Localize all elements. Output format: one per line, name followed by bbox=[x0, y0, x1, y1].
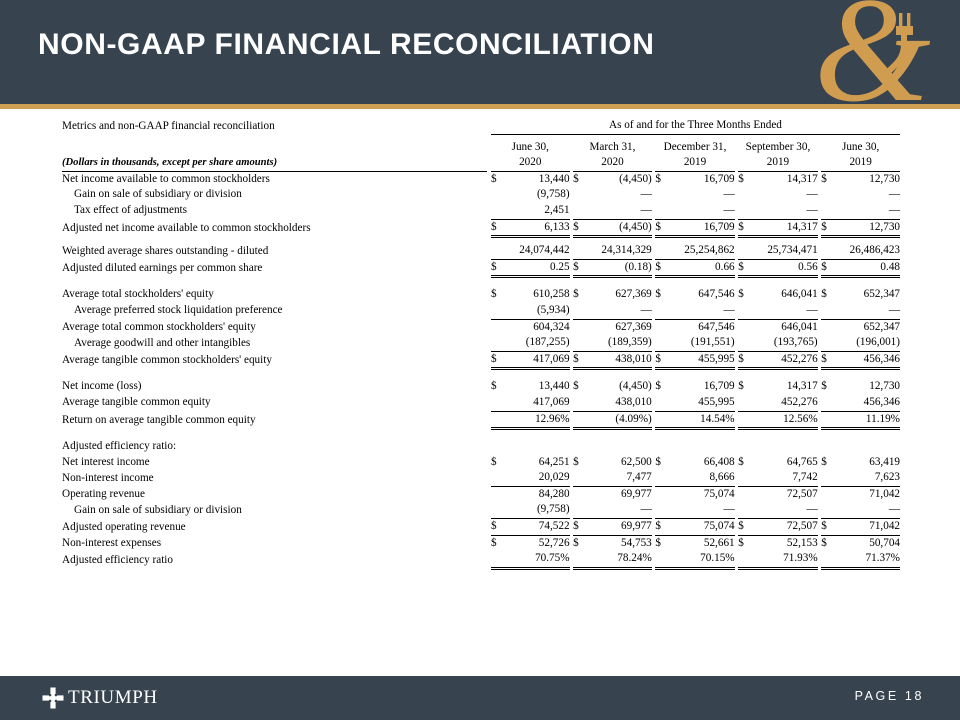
row-label: Adjusted efficiency ratio bbox=[62, 551, 487, 568]
currency-symbol: $ bbox=[738, 287, 751, 303]
currency-symbol bbox=[573, 502, 585, 518]
currency-symbol bbox=[821, 203, 833, 219]
cell-value: 63,419 bbox=[834, 455, 900, 471]
currency-symbol: $ bbox=[821, 259, 833, 277]
currency-symbol bbox=[573, 335, 585, 351]
table-row: Adjusted operating revenue$74,522$69,977… bbox=[62, 519, 900, 536]
currency-symbol: $ bbox=[573, 535, 585, 551]
row-label: Net income (loss) bbox=[62, 379, 487, 395]
cell-value: 26,486,423 bbox=[834, 243, 900, 259]
cell-value: 12,730 bbox=[834, 219, 900, 237]
cell-value: 70.15% bbox=[668, 551, 735, 568]
cell-value: 70.75% bbox=[503, 551, 569, 568]
currency-symbol bbox=[573, 470, 585, 486]
currency-symbol: $ bbox=[655, 351, 667, 369]
svg-text:&: & bbox=[814, 0, 931, 104]
cell-value: (9,758) bbox=[503, 187, 569, 203]
table-row: Average preferred stock liquidation pref… bbox=[62, 303, 900, 319]
currency-symbol bbox=[491, 439, 503, 455]
row-label: Average total common stockholders' equit… bbox=[62, 319, 487, 335]
column-header-month-row: June 30,March 31,December 31,September 3… bbox=[62, 140, 900, 156]
table-row: Gain on sale of subsidiary or division(9… bbox=[62, 187, 900, 203]
cell-value bbox=[751, 439, 818, 455]
slide-footer: TRIUMPH PAGE 18 bbox=[0, 676, 960, 720]
currency-symbol: $ bbox=[821, 519, 833, 536]
currency-symbol bbox=[655, 470, 667, 486]
currency-symbol bbox=[738, 243, 751, 259]
cell-value: 12.56% bbox=[751, 411, 818, 429]
currency-symbol bbox=[491, 551, 503, 568]
cell-value: 417,069 bbox=[503, 351, 569, 369]
currency-symbol bbox=[491, 411, 503, 429]
row-label: Gain on sale of subsidiary or division bbox=[62, 187, 487, 203]
currency-symbol: $ bbox=[573, 171, 585, 187]
currency-symbol bbox=[573, 187, 585, 203]
table-row: Average goodwill and other intangibles(1… bbox=[62, 335, 900, 351]
currency-symbol bbox=[491, 486, 503, 502]
currency-symbol bbox=[821, 551, 833, 568]
row-label: Average tangible common equity bbox=[62, 395, 487, 411]
column-header-month: June 30, bbox=[821, 140, 900, 156]
currency-symbol: $ bbox=[821, 455, 833, 471]
currency-symbol bbox=[655, 187, 667, 203]
column-header-year: 2020 bbox=[491, 155, 570, 171]
row-label: Return on average tangible common equity bbox=[62, 411, 487, 429]
row-label: Average total stockholders' equity bbox=[62, 287, 487, 303]
currency-symbol bbox=[491, 502, 503, 518]
column-header-month: December 31, bbox=[655, 140, 734, 156]
currency-symbol: $ bbox=[573, 379, 585, 395]
currency-symbol bbox=[821, 303, 833, 319]
currency-symbol bbox=[821, 395, 833, 411]
row-label: Non-interest income bbox=[62, 470, 487, 486]
ampersand-plug-icon: & bbox=[798, 0, 958, 104]
column-header-year-row: (Dollars in thousands, except per share … bbox=[62, 155, 900, 171]
cell-value: — bbox=[668, 203, 735, 219]
row-label: Non-interest expenses bbox=[62, 535, 487, 551]
cell-value: 2,451 bbox=[503, 203, 569, 219]
row-label: Operating revenue bbox=[62, 486, 487, 502]
cell-value: 652,347 bbox=[834, 287, 900, 303]
currency-symbol: $ bbox=[655, 379, 667, 395]
cell-value: 54,753 bbox=[585, 535, 651, 551]
currency-symbol: $ bbox=[491, 455, 503, 471]
currency-symbol bbox=[573, 551, 585, 568]
cell-value: 7,742 bbox=[751, 470, 818, 486]
currency-symbol: $ bbox=[738, 219, 751, 237]
units-note: (Dollars in thousands, except per share … bbox=[62, 155, 487, 171]
period-group-header: As of and for the Three Months Ended bbox=[491, 118, 900, 134]
cell-value bbox=[585, 439, 651, 455]
currency-symbol: $ bbox=[821, 219, 833, 237]
cell-value: (193,765) bbox=[751, 335, 818, 351]
financial-table-area: Metrics and non-GAAP financial reconcili… bbox=[0, 109, 960, 669]
cell-value: 52,661 bbox=[668, 535, 735, 551]
currency-symbol bbox=[655, 243, 667, 259]
row-label: Average goodwill and other intangibles bbox=[62, 335, 487, 351]
row-label: Net income available to common stockhold… bbox=[62, 171, 487, 187]
currency-symbol: $ bbox=[738, 535, 751, 551]
cell-value: 69,977 bbox=[585, 519, 651, 536]
cell-value: 52,153 bbox=[751, 535, 818, 551]
currency-symbol bbox=[573, 411, 585, 429]
currency-symbol bbox=[821, 411, 833, 429]
currency-symbol: $ bbox=[655, 519, 667, 536]
currency-symbol: $ bbox=[655, 171, 667, 187]
table-row: Return on average tangible common equity… bbox=[62, 411, 900, 429]
currency-symbol bbox=[655, 303, 667, 319]
table-row: Non-interest income20,0297,4778,6667,742… bbox=[62, 470, 900, 486]
cell-value: (196,001) bbox=[834, 335, 900, 351]
table-row: Average total stockholders' equity$610,2… bbox=[62, 287, 900, 303]
currency-symbol bbox=[573, 395, 585, 411]
cell-value: (191,551) bbox=[668, 335, 735, 351]
cell-value: 66,408 bbox=[668, 455, 735, 471]
cell-value: 50,704 bbox=[834, 535, 900, 551]
cell-value: (189,359) bbox=[585, 335, 651, 351]
cell-value: 627,369 bbox=[585, 287, 651, 303]
column-header-year: 2019 bbox=[738, 155, 817, 171]
cell-value: — bbox=[585, 303, 651, 319]
currency-symbol bbox=[573, 486, 585, 502]
cell-value: 74,522 bbox=[503, 519, 569, 536]
cell-value bbox=[503, 439, 569, 455]
currency-symbol bbox=[738, 395, 751, 411]
cell-value: 647,546 bbox=[668, 287, 735, 303]
cell-value: 24,314,329 bbox=[585, 243, 651, 259]
currency-symbol: $ bbox=[655, 535, 667, 551]
column-header-year: 2020 bbox=[573, 155, 652, 171]
cell-value: 14,317 bbox=[751, 219, 818, 237]
table-row: Tax effect of adjustments2,451———— bbox=[62, 203, 900, 219]
currency-symbol bbox=[738, 439, 751, 455]
table-body: Metrics and non-GAAP financial reconcili… bbox=[62, 118, 900, 568]
currency-symbol bbox=[491, 319, 503, 335]
cell-value: — bbox=[668, 502, 735, 518]
cell-value: 456,346 bbox=[834, 351, 900, 369]
currency-symbol: $ bbox=[573, 287, 585, 303]
currency-symbol bbox=[655, 335, 667, 351]
currency-symbol bbox=[655, 486, 667, 502]
page-number: PAGE 18 bbox=[855, 689, 924, 703]
table-row: Net income (loss)$13,440$(4,450)$16,709$… bbox=[62, 379, 900, 395]
currency-symbol bbox=[573, 203, 585, 219]
cell-value: 75,074 bbox=[668, 486, 735, 502]
currency-symbol bbox=[573, 439, 585, 455]
currency-symbol bbox=[491, 243, 503, 259]
currency-symbol: $ bbox=[491, 379, 503, 395]
currency-symbol: $ bbox=[573, 259, 585, 277]
table-row: Non-interest expenses$52,726$54,753$52,6… bbox=[62, 535, 900, 551]
cell-value: 6,133 bbox=[503, 219, 569, 237]
cell-value: 417,069 bbox=[503, 395, 569, 411]
cell-value: 604,324 bbox=[503, 319, 569, 335]
section-spacer-row bbox=[62, 277, 900, 288]
cell-value: — bbox=[751, 187, 818, 203]
cell-value: — bbox=[585, 187, 651, 203]
currency-symbol bbox=[655, 551, 667, 568]
currency-symbol bbox=[821, 502, 833, 518]
cell-value: — bbox=[751, 203, 818, 219]
currency-symbol bbox=[821, 486, 833, 502]
currency-symbol bbox=[655, 319, 667, 335]
cell-value: 11.19% bbox=[834, 411, 900, 429]
currency-symbol: $ bbox=[573, 519, 585, 536]
cell-value: 14.54% bbox=[668, 411, 735, 429]
row-label: Adjusted net income available to common … bbox=[62, 219, 487, 237]
currency-symbol bbox=[738, 486, 751, 502]
table-row: Net interest income$64,251$62,500$66,408… bbox=[62, 455, 900, 471]
cell-value: 652,347 bbox=[834, 319, 900, 335]
currency-symbol: $ bbox=[491, 351, 503, 369]
currency-symbol: $ bbox=[821, 535, 833, 551]
cell-value: — bbox=[834, 187, 900, 203]
currency-symbol: $ bbox=[738, 519, 751, 536]
table-row: Operating revenue84,28069,97775,07472,50… bbox=[62, 486, 900, 502]
currency-symbol: $ bbox=[655, 259, 667, 277]
currency-symbol bbox=[821, 439, 833, 455]
currency-symbol bbox=[738, 335, 751, 351]
row-label: Average tangible common stockholders' eq… bbox=[62, 351, 487, 369]
cell-value: 12.96% bbox=[503, 411, 569, 429]
column-header-month: June 30, bbox=[491, 140, 570, 156]
cell-value: 456,346 bbox=[834, 395, 900, 411]
currency-symbol: $ bbox=[491, 535, 503, 551]
currency-symbol: $ bbox=[655, 455, 667, 471]
row-label: Adjusted efficiency ratio: bbox=[62, 439, 487, 455]
cell-value: 14,317 bbox=[751, 379, 818, 395]
cell-value: (5,934) bbox=[503, 303, 569, 319]
currency-symbol bbox=[655, 395, 667, 411]
cell-value: 25,734,471 bbox=[751, 243, 818, 259]
cell-value: 12,730 bbox=[834, 379, 900, 395]
currency-symbol bbox=[655, 411, 667, 429]
currency-symbol bbox=[738, 303, 751, 319]
row-label: Gain on sale of subsidiary or division bbox=[62, 502, 487, 518]
currency-symbol bbox=[821, 187, 833, 203]
currency-symbol bbox=[738, 203, 751, 219]
cell-value: 7,623 bbox=[834, 470, 900, 486]
currency-symbol: $ bbox=[655, 219, 667, 237]
cell-value: — bbox=[751, 303, 818, 319]
cell-value: 0.66 bbox=[668, 259, 735, 277]
brand-logo: TRIUMPH bbox=[42, 685, 158, 711]
currency-symbol: $ bbox=[738, 351, 751, 369]
currency-symbol bbox=[491, 335, 503, 351]
currency-symbol bbox=[655, 502, 667, 518]
table-row: Average tangible common stockholders' eq… bbox=[62, 351, 900, 369]
brand-name: TRIUMPH bbox=[68, 687, 158, 709]
cell-value: 13,440 bbox=[503, 171, 569, 187]
cell-value: 24,074,442 bbox=[503, 243, 569, 259]
cell-value: 438,010 bbox=[585, 351, 651, 369]
section-spacer-row bbox=[62, 429, 900, 440]
currency-symbol bbox=[821, 470, 833, 486]
cell-value: — bbox=[585, 203, 651, 219]
triumph-cross-logo-icon bbox=[42, 687, 64, 709]
cell-value: 0.25 bbox=[503, 259, 569, 277]
cell-value: — bbox=[834, 502, 900, 518]
section-spacer-row bbox=[62, 369, 900, 380]
currency-symbol: $ bbox=[738, 379, 751, 395]
cell-value: 452,276 bbox=[751, 395, 818, 411]
table-row: Weighted average shares outstanding - di… bbox=[62, 243, 900, 259]
cell-value: 16,709 bbox=[668, 219, 735, 237]
currency-symbol: $ bbox=[573, 455, 585, 471]
slide: NON-GAAP FINANCIAL RECONCILIATION & Metr… bbox=[0, 0, 960, 720]
column-header-month: March 31, bbox=[573, 140, 652, 156]
row-label: Tax effect of adjustments bbox=[62, 203, 487, 219]
currency-symbol: $ bbox=[491, 287, 503, 303]
currency-symbol bbox=[655, 203, 667, 219]
row-label: Weighted average shares outstanding - di… bbox=[62, 243, 487, 259]
currency-symbol: $ bbox=[821, 379, 833, 395]
cell-value: (4,450) bbox=[585, 171, 651, 187]
currency-symbol: $ bbox=[573, 219, 585, 237]
cell-value: 71.37% bbox=[834, 551, 900, 568]
table-caption: Metrics and non-GAAP financial reconcili… bbox=[62, 118, 487, 134]
column-header-year: 2019 bbox=[821, 155, 900, 171]
currency-symbol bbox=[821, 243, 833, 259]
row-label: Adjusted diluted earnings per common sha… bbox=[62, 259, 487, 277]
cell-value: 16,709 bbox=[668, 379, 735, 395]
cell-value: 0.56 bbox=[751, 259, 818, 277]
cell-value: 8,666 bbox=[668, 470, 735, 486]
cell-value: 627,369 bbox=[585, 319, 651, 335]
cell-value: 12,730 bbox=[834, 171, 900, 187]
currency-symbol: $ bbox=[491, 171, 503, 187]
cell-value: 610,258 bbox=[503, 287, 569, 303]
row-label: Average preferred stock liquidation pref… bbox=[62, 303, 487, 319]
column-header-year: 2019 bbox=[655, 155, 734, 171]
cell-value: — bbox=[585, 502, 651, 518]
cell-value: 438,010 bbox=[585, 395, 651, 411]
cell-value: 647,546 bbox=[668, 319, 735, 335]
cell-value: 64,251 bbox=[503, 455, 569, 471]
table-row: Adjusted efficiency ratio70.75%78.24%70.… bbox=[62, 551, 900, 568]
cell-value: 646,041 bbox=[751, 319, 818, 335]
cell-value: 84,280 bbox=[503, 486, 569, 502]
cell-value: 71,042 bbox=[834, 486, 900, 502]
currency-symbol bbox=[738, 411, 751, 429]
cell-value: — bbox=[834, 203, 900, 219]
table-caption-row: Metrics and non-GAAP financial reconcili… bbox=[62, 118, 900, 134]
cell-value: 72,507 bbox=[751, 486, 818, 502]
cell-value: (0.18) bbox=[585, 259, 651, 277]
cell-value: 452,276 bbox=[751, 351, 818, 369]
cell-value: (187,255) bbox=[503, 335, 569, 351]
currency-symbol bbox=[573, 303, 585, 319]
cell-value: 69,977 bbox=[585, 486, 651, 502]
cell-value: 75,074 bbox=[668, 519, 735, 536]
currency-symbol bbox=[491, 395, 503, 411]
currency-symbol bbox=[655, 439, 667, 455]
cell-value: 13,440 bbox=[503, 379, 569, 395]
cell-value: 7,477 bbox=[585, 470, 651, 486]
currency-symbol: $ bbox=[573, 351, 585, 369]
currency-symbol bbox=[573, 243, 585, 259]
row-label: Net interest income bbox=[62, 455, 487, 471]
cell-value: (4,450) bbox=[585, 219, 651, 237]
cell-value: 71.93% bbox=[751, 551, 818, 568]
cell-value: — bbox=[751, 502, 818, 518]
cell-value: 646,041 bbox=[751, 287, 818, 303]
cell-value: 0.48 bbox=[834, 259, 900, 277]
cell-value: 14,317 bbox=[751, 171, 818, 187]
cell-value: 455,995 bbox=[668, 395, 735, 411]
currency-symbol bbox=[738, 470, 751, 486]
cell-value: 62,500 bbox=[585, 455, 651, 471]
cell-value: 71,042 bbox=[834, 519, 900, 536]
column-header-month: September 30, bbox=[738, 140, 817, 156]
currency-symbol bbox=[738, 187, 751, 203]
currency-symbol: $ bbox=[821, 287, 833, 303]
cell-value: 25,254,862 bbox=[668, 243, 735, 259]
cell-value: (9,758) bbox=[503, 502, 569, 518]
currency-symbol bbox=[491, 203, 503, 219]
cell-value: (4.09%) bbox=[585, 411, 651, 429]
currency-symbol bbox=[821, 319, 833, 335]
cell-value: — bbox=[834, 303, 900, 319]
non-gaap-reconciliation-table: Metrics and non-GAAP financial reconcili… bbox=[62, 118, 900, 570]
cell-value: 64,765 bbox=[751, 455, 818, 471]
currency-symbol: $ bbox=[821, 351, 833, 369]
currency-symbol bbox=[738, 319, 751, 335]
currency-symbol: $ bbox=[655, 287, 667, 303]
currency-symbol bbox=[738, 551, 751, 568]
table-row: Adjusted diluted earnings per common sha… bbox=[62, 259, 900, 277]
row-label: Adjusted operating revenue bbox=[62, 519, 487, 536]
currency-symbol: $ bbox=[738, 455, 751, 471]
table-row: Average total common stockholders' equit… bbox=[62, 319, 900, 335]
currency-symbol: $ bbox=[738, 259, 751, 277]
table-row: Average tangible common equity417,069438… bbox=[62, 395, 900, 411]
cell-value: 52,726 bbox=[503, 535, 569, 551]
currency-symbol: $ bbox=[491, 259, 503, 277]
currency-symbol bbox=[491, 303, 503, 319]
currency-symbol bbox=[491, 187, 503, 203]
page-title: NON-GAAP FINANCIAL RECONCILIATION bbox=[38, 28, 654, 62]
cell-value: 16,709 bbox=[668, 171, 735, 187]
currency-symbol: $ bbox=[491, 519, 503, 536]
currency-symbol bbox=[738, 502, 751, 518]
cell-value: 20,029 bbox=[503, 470, 569, 486]
cell-value bbox=[668, 439, 735, 455]
table-row: Adjusted efficiency ratio: bbox=[62, 439, 900, 455]
table-row: Net income available to common stockhold… bbox=[62, 171, 900, 187]
currency-symbol: $ bbox=[821, 171, 833, 187]
cell-value: 455,995 bbox=[668, 351, 735, 369]
cell-value: 78.24% bbox=[585, 551, 651, 568]
table-row: Adjusted net income available to common … bbox=[62, 219, 900, 237]
cell-value bbox=[834, 439, 900, 455]
currency-symbol: $ bbox=[491, 219, 503, 237]
currency-symbol bbox=[821, 335, 833, 351]
cell-value: — bbox=[668, 303, 735, 319]
currency-symbol bbox=[573, 319, 585, 335]
cell-value: (4,450) bbox=[585, 379, 651, 395]
cell-value: — bbox=[668, 187, 735, 203]
table-row: Gain on sale of subsidiary or division(9… bbox=[62, 502, 900, 518]
currency-symbol: $ bbox=[738, 171, 751, 187]
slide-header: NON-GAAP FINANCIAL RECONCILIATION & bbox=[0, 0, 960, 104]
cell-value: 72,507 bbox=[751, 519, 818, 536]
currency-symbol bbox=[491, 470, 503, 486]
